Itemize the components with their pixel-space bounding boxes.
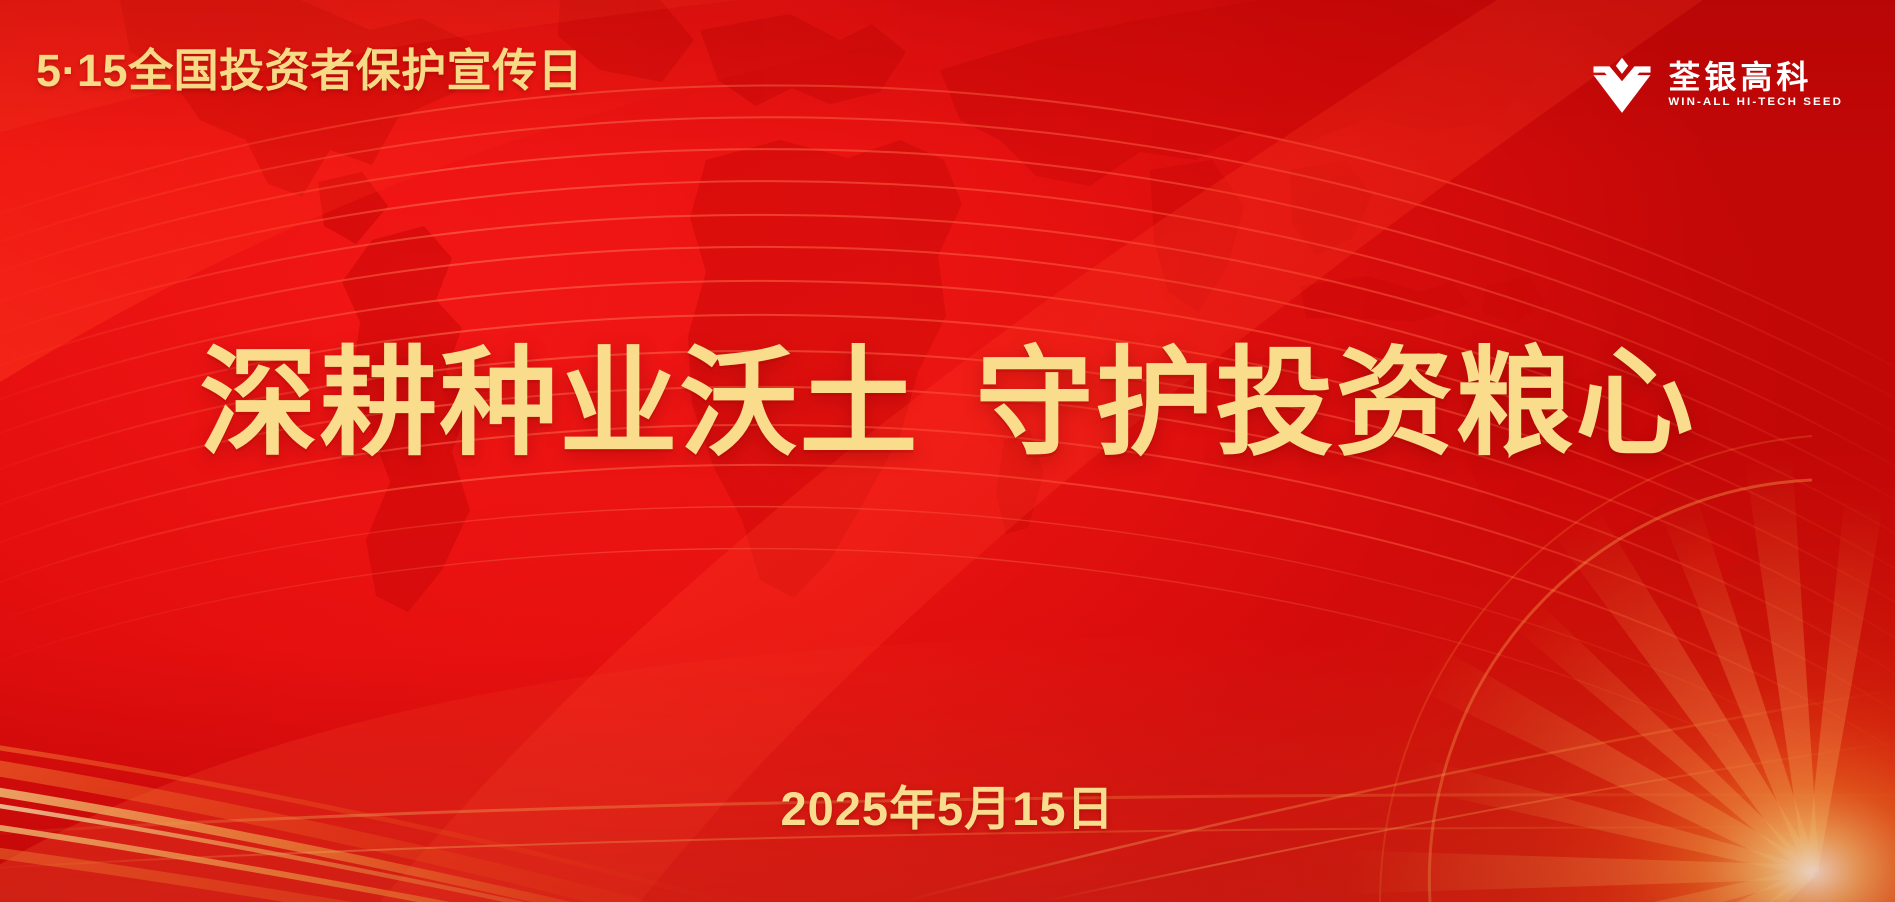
headline-block: 深耕种业沃土守护投资粮心 [0,335,1895,474]
winall-chevron-sprout-icon [1591,54,1653,116]
headline-part-two: 守护投资粮心 [976,338,1696,470]
date-block: 2025年5月15日 [0,785,1895,832]
company-logo: 荃银高科 WIN-ALL HI-TECH SEED [1591,54,1843,116]
logo-name-cn: 荃银高科 [1668,61,1812,95]
logo-name-en: WIN-ALL HI-TECH SEED [1668,98,1843,109]
event-date: 2025年5月15日 [781,785,1115,832]
logo-wordmark: 荃银高科 WIN-ALL HI-TECH SEED [1668,61,1843,108]
event-tag: 5·15全国投资者保护宣传日 [36,48,583,93]
investor-protection-banner: 5·15全国投资者保护宣传日 荃银高科 [0,0,1895,902]
headline-part-one: 深耕种业沃土 [199,338,919,470]
banner-header: 5·15全国投资者保护宣传日 荃银高科 [0,0,1895,160]
headline: 深耕种业沃土守护投资粮心 [199,335,1695,474]
